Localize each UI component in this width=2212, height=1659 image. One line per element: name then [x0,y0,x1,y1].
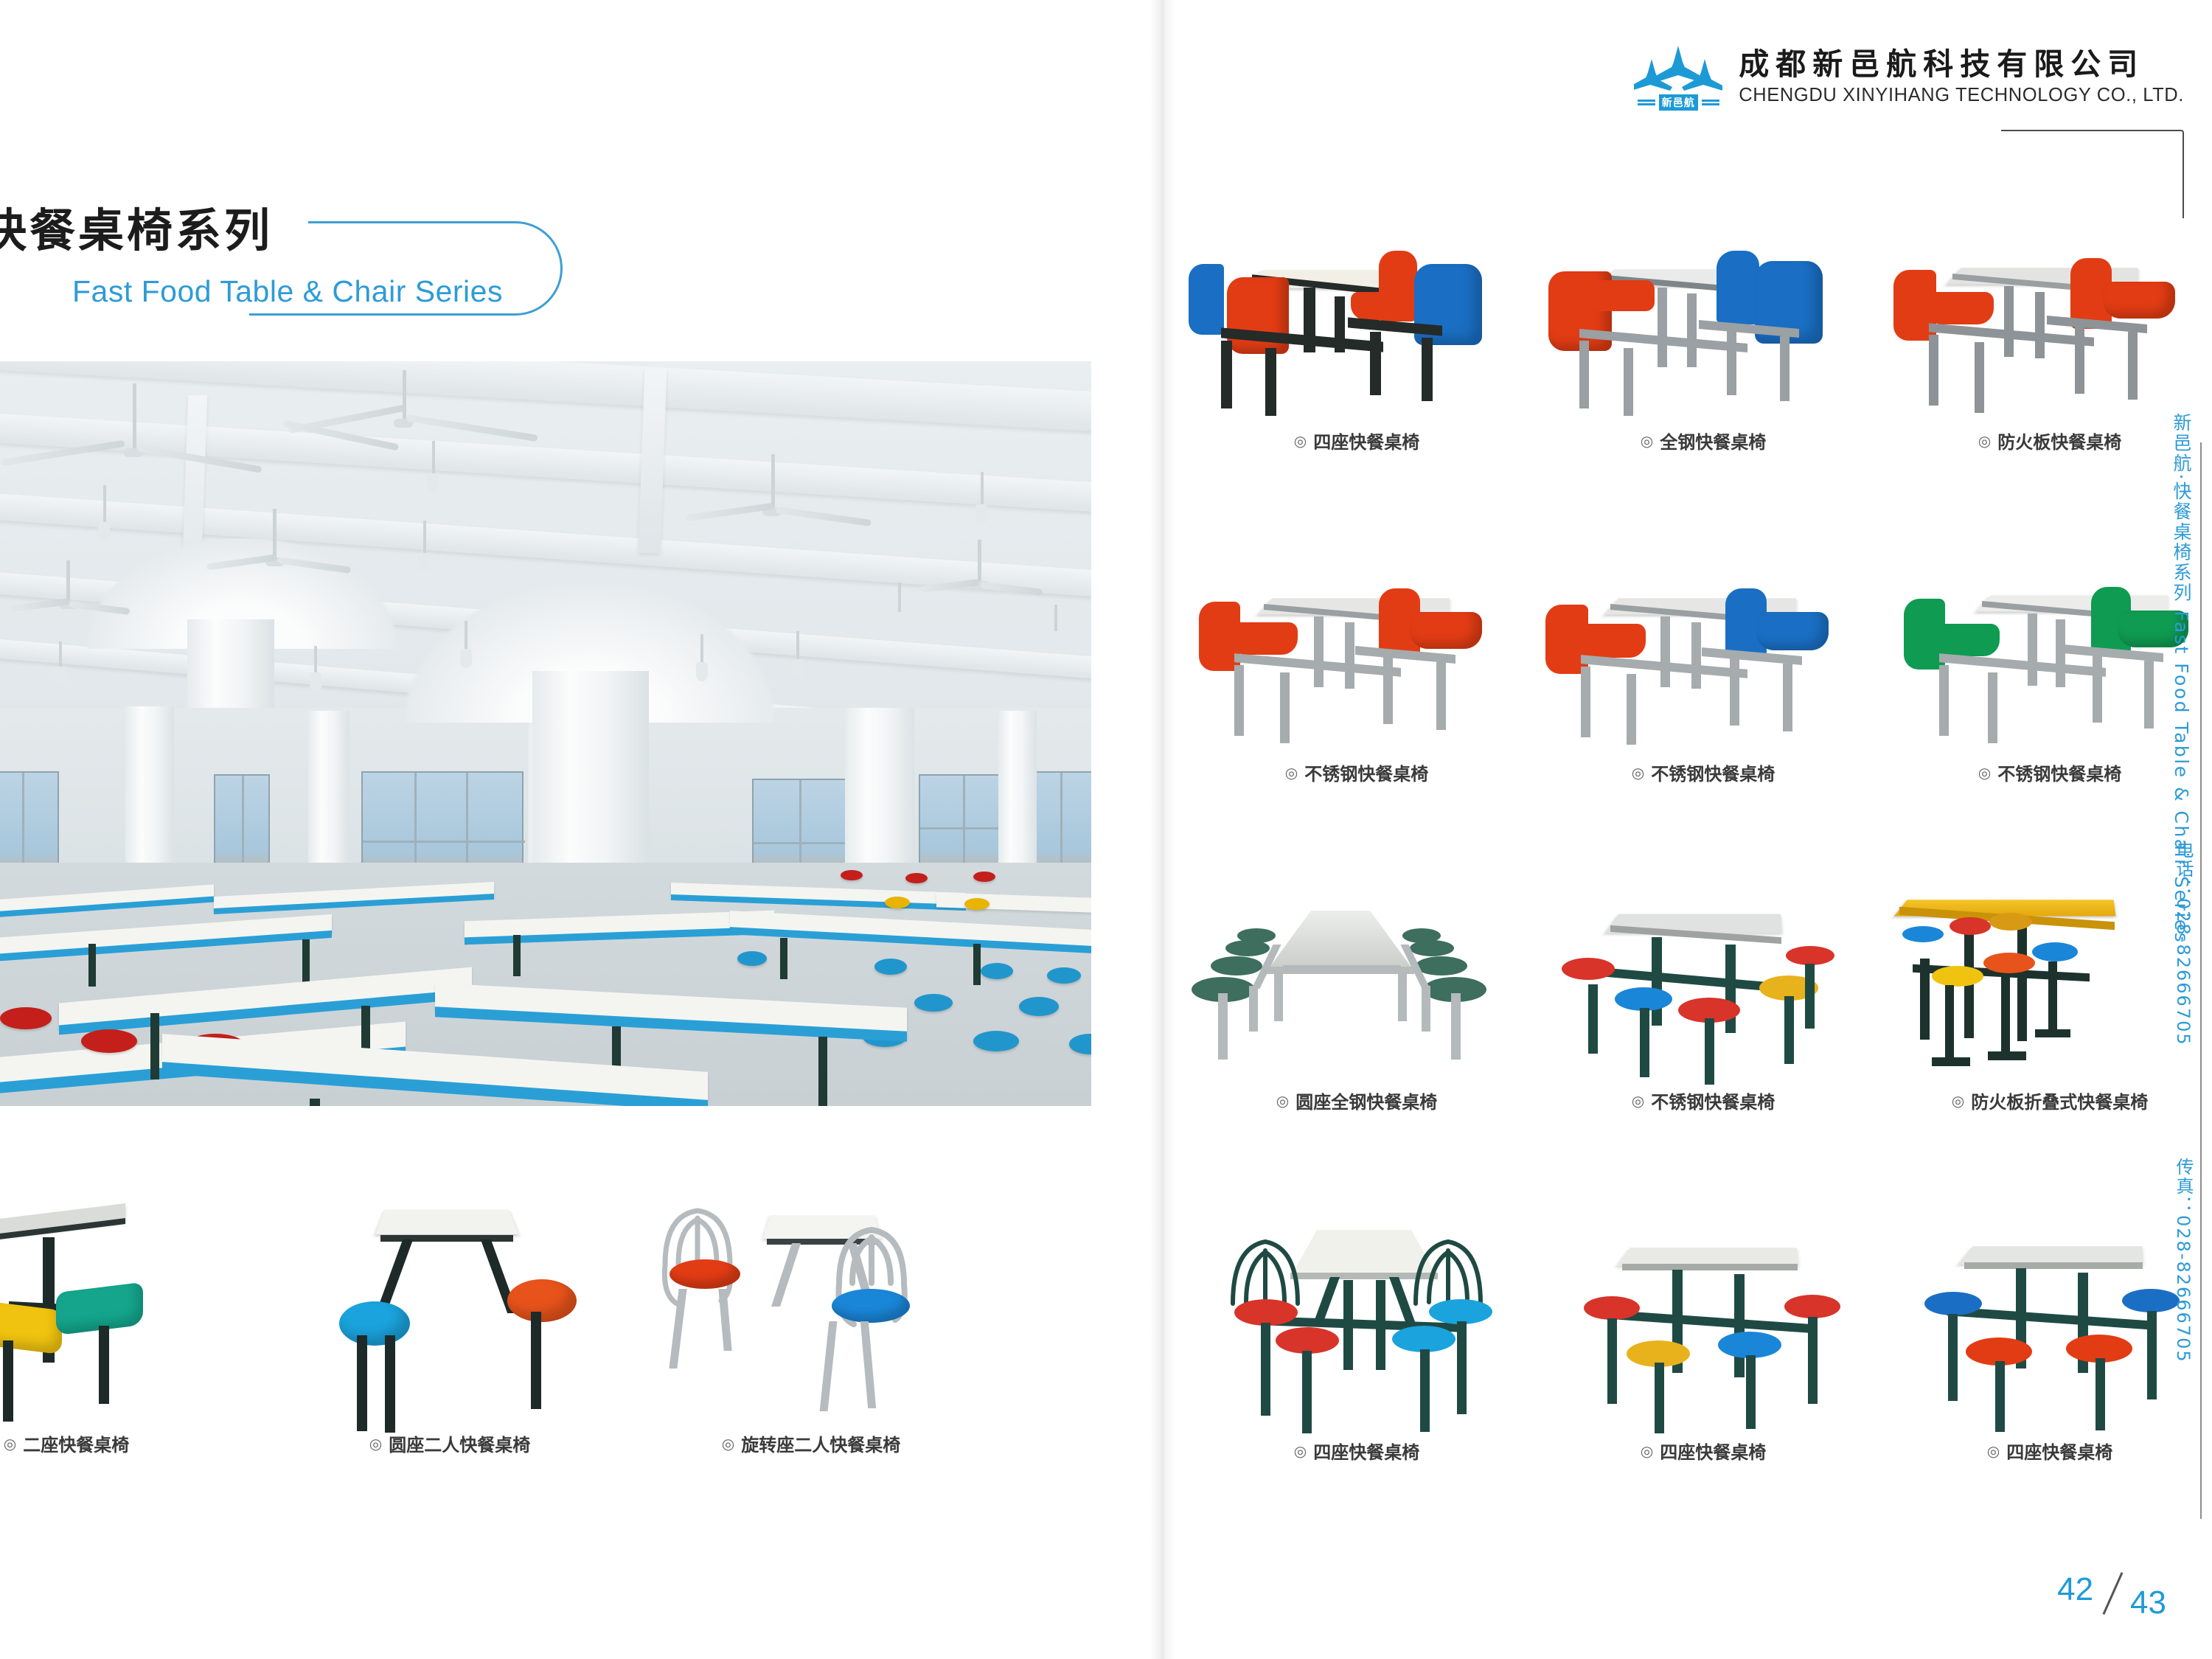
product-card[interactable]: ◎ 全钢快餐桌椅 [1541,236,1865,453]
product-card[interactable]: ◎ 四座快餐桌椅 [1194,243,1519,453]
page-title-cn: 快餐桌椅系列 [0,193,273,260]
bullet-icon: ◎ [1987,1444,2000,1458]
bullet-icon: ◎ [1632,765,1644,780]
product-caption: ◎ 四座快餐桌椅 [1294,428,1419,453]
product-caption-text: 四座快餐桌椅 [1313,1438,1419,1464]
jets-logo-icon [1634,44,1722,93]
product-image-round-two-seat [295,1198,605,1430]
product-image-eight-seat-steel [1194,903,1519,1088]
bullet-icon: ◎ [1285,765,1298,780]
header-rule-decoration [2001,130,2184,218]
product-caption-text: 四座快餐桌椅 [2006,1438,2112,1464]
product-card[interactable]: ◎ 不锈钢快餐桌椅 [1541,896,1865,1113]
page-numbers: 42 43 [2057,1571,2166,1616]
product-card[interactable]: ◎ 四座快餐桌椅 [1541,1224,1865,1464]
product-caption: ◎ 防火板折叠式快餐桌椅 [1952,1088,2148,1113]
side-telephone: 电话：028-82666705 [2171,841,2197,1046]
product-card[interactable]: ◎ 不锈钢快餐桌椅 [1888,575,2212,785]
bullet-icon: ◎ [4,1436,16,1451]
product-card[interactable]: ◎ 二座快餐桌椅 [0,1209,221,1456]
product-card[interactable]: ◎ 圆座全钢快餐桌椅 [1194,903,1519,1113]
product-card[interactable]: ◎ 四座快餐桌椅 [1194,1217,1519,1464]
product-card[interactable]: ◎ 旋转座二人快餐桌椅 [649,1202,973,1456]
product-caption-text: 全钢快餐桌椅 [1660,428,1766,453]
product-caption-text: 防火板快餐桌椅 [1997,428,2121,453]
bullet-icon: ◎ [369,1436,382,1451]
product-card[interactable]: ◎ 不锈钢快餐桌椅 [1541,575,1865,785]
bullet-icon: ◎ [722,1436,734,1451]
product-caption-text: 圆座全钢快餐桌椅 [1295,1088,1437,1113]
product-card[interactable]: ◎ 防火板快餐桌椅 [1888,243,2212,453]
product-caption-text: 四座快餐桌椅 [1313,428,1419,453]
page-gutter-shadow [1150,0,1175,1659]
product-caption: ◎ 不锈钢快餐桌椅 [1632,759,1775,785]
bullet-icon: ◎ [1632,1093,1644,1108]
product-caption-text: 四座快餐桌椅 [1660,1438,1766,1464]
page-separator-slash [2095,1571,2129,1616]
catalog-spread: 快餐桌椅系列 Fast Food Table & Chair Series [0,0,2212,1659]
side-rule [2200,442,2202,1519]
bullet-icon: ◎ [1641,1444,1653,1458]
bullet-icon: ◎ [1294,434,1307,448]
product-caption-text: 不锈钢快餐桌椅 [1997,759,2121,785]
product-caption: ◎ 二座快餐桌椅 [4,1430,129,1456]
bullet-icon: ◎ [1952,1093,1964,1108]
company-name-en: CHENGDU XINYIHANG TECHNOLOGY CO., LTD. [1739,84,2184,107]
product-caption: ◎ 全钢快餐桌椅 [1641,428,1766,453]
product-caption: ◎ 不锈钢快餐桌椅 [1978,759,2121,785]
product-caption-text: 旋转座二人快餐桌椅 [741,1430,900,1456]
product-caption: ◎ 防火板快餐桌椅 [1978,428,2121,453]
bullet-icon: ◎ [1978,434,1991,448]
swivel-chair-backrest-icon [649,1202,973,1430]
product-image-four-seat-fan [1194,1217,1519,1438]
product-image-swivel-two-seat [649,1202,973,1430]
product-caption: ◎ 旋转座二人快餐桌椅 [722,1430,900,1456]
bullet-icon: ◎ [1641,434,1653,448]
product-caption-text: 不锈钢快餐桌椅 [1304,759,1428,785]
product-image-full-steel [1541,236,1865,428]
bullet-icon: ◎ [1294,1444,1307,1458]
product-caption: ◎ 四座快餐桌椅 [1641,1438,1766,1464]
product-image-stainless-3 [1888,575,2212,759]
logo-bar-left [1638,100,1655,105]
product-caption: ◎ 圆座二人快餐桌椅 [369,1430,530,1456]
product-image-two-seat [0,1209,221,1430]
product-image-stainless-2 [1541,575,1865,759]
bullet-icon: ◎ [1978,765,1991,780]
product-image-stainless-1 [1194,575,1519,759]
bullet-icon: ◎ [1276,1093,1289,1108]
product-card[interactable]: ◎ 四座快餐桌椅 [1888,1224,2212,1464]
product-caption-text: 不锈钢快餐桌椅 [1651,759,1775,785]
product-image-stainless-six [1541,896,1865,1088]
product-image-fireproof [1888,243,2212,428]
product-caption-text: 防火板折叠式快餐桌椅 [1971,1088,2148,1113]
company-logo: 新邑航 [1634,43,1722,111]
product-caption: ◎ 四座快餐桌椅 [1294,1438,1419,1464]
seat-round [507,1279,577,1322]
company-name-cn: 成都新邑航科技有限公司 [1739,46,2184,82]
company-brand-header: 新邑航 成都新邑航科技有限公司 CHENGDU XINYIHANG TECHNO… [1634,43,2184,111]
product-caption-text: 二座快餐桌椅 [23,1430,129,1456]
product-image-four-seat-stool-2 [1888,1224,2212,1438]
product-caption: ◎ 不锈钢快餐桌椅 [1632,1088,1775,1113]
product-card[interactable]: ◎ 不锈钢快餐桌椅 [1194,575,1519,785]
product-caption: ◎ 四座快餐桌椅 [1987,1438,2112,1464]
product-caption: ◎ 圆座全钢快餐桌椅 [1276,1088,1437,1113]
side-fax: 传真：028-82666705 [2171,1158,2197,1363]
product-image-folding-fireproof [1888,885,2212,1088]
page-number-left: 42 [2057,1573,2093,1606]
product-image-four-seat-stool-1 [1541,1224,1865,1438]
page-number-right: 43 [2130,1587,2166,1619]
logo-wordmark: 新邑航 [1659,94,1698,111]
product-card[interactable]: ◎ 防火板折叠式快餐桌椅 [1888,885,2212,1113]
seat-round [339,1301,410,1346]
product-caption-text: 圆座二人快餐桌椅 [389,1430,530,1456]
product-caption: ◎ 不锈钢快餐桌椅 [1285,759,1428,785]
page-title-en: Fast Food Table & Chair Series [72,274,503,309]
product-caption-text: 不锈钢快餐桌椅 [1651,1088,1775,1113]
canteen-hero-photo [0,361,1091,1106]
product-image-four-seat-1 [1194,243,1519,428]
product-card[interactable]: ◎ 圆座二人快餐桌椅 [295,1198,605,1456]
logo-bar-right [1702,100,1719,105]
